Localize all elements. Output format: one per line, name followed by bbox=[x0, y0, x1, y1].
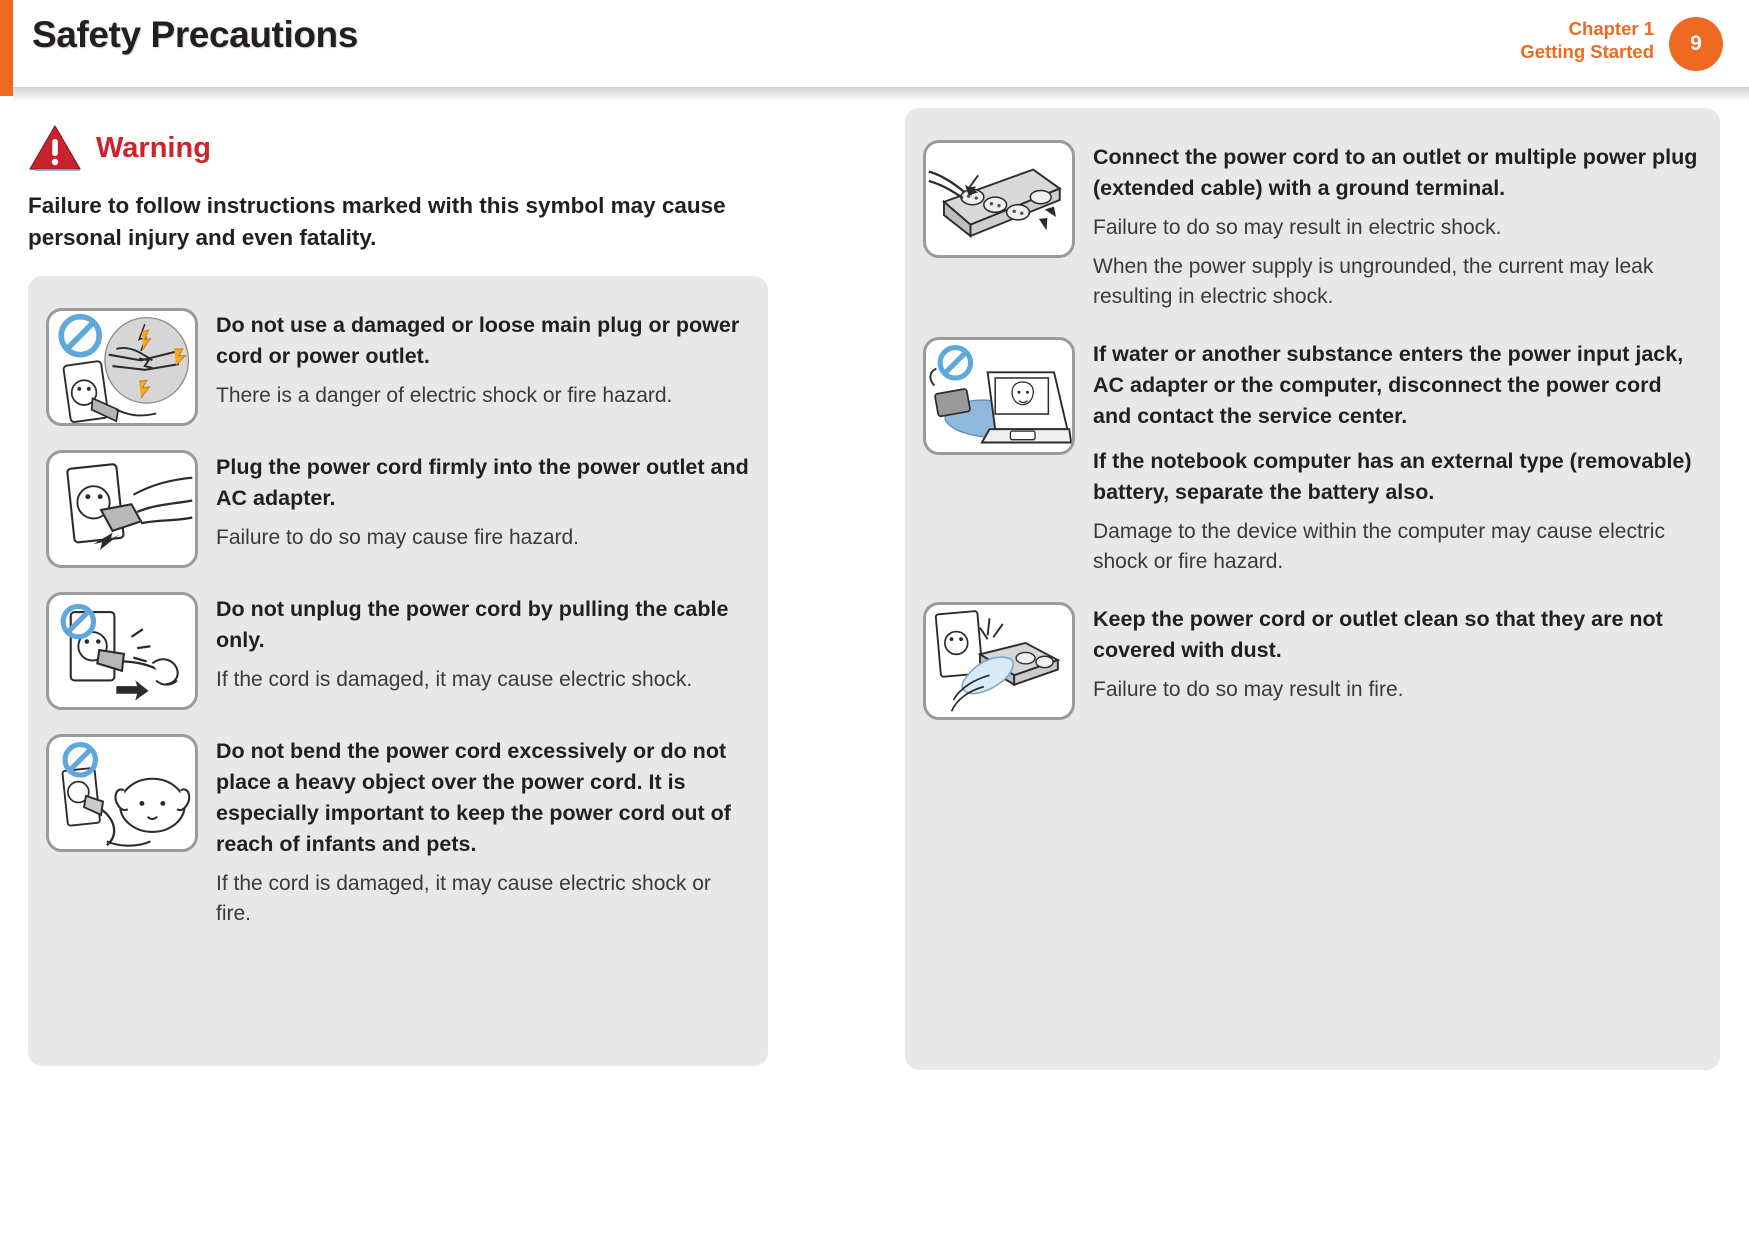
left-column: Warning Failure to follow instructions m… bbox=[28, 108, 768, 1066]
warning-label: Warning bbox=[96, 132, 211, 165]
item-title: Plug the power cord firmly into the powe… bbox=[216, 452, 750, 514]
item-note: Failure to do so may cause fire hazard. bbox=[216, 523, 750, 554]
unplug-by-cable-prohibited-icon bbox=[46, 592, 198, 710]
content-columns: Warning Failure to follow instructions m… bbox=[0, 108, 1749, 1241]
item-note: If the cord is damaged, it may cause ele… bbox=[216, 869, 750, 930]
left-warning-panel: Do not use a damaged or loose main plug … bbox=[28, 276, 768, 1066]
list-item: If water or another substance enters the… bbox=[923, 327, 1702, 592]
list-item-body: Do not bend the power cord excessively o… bbox=[216, 734, 750, 930]
bent-cord-pet-prohibited-icon bbox=[46, 734, 198, 852]
list-item: Do not bend the power cord excessively o… bbox=[46, 724, 750, 944]
damaged-plug-prohibited-icon bbox=[46, 308, 198, 426]
list-item: Connect the power cord to an outlet or m… bbox=[923, 130, 1702, 327]
header-accent-bar bbox=[0, 0, 13, 96]
item-note: When the power supply is ungrounded, the… bbox=[1093, 252, 1702, 313]
section-label: Getting Started bbox=[1520, 41, 1654, 64]
list-item-body: Connect the power cord to an outlet or m… bbox=[1093, 140, 1702, 313]
power-strip-ground-terminal-icon bbox=[923, 140, 1075, 258]
header-shadow bbox=[13, 88, 1749, 102]
chapter-breadcrumb: Chapter 1 Getting Started bbox=[1520, 18, 1654, 63]
document-page: Safety Precautions Chapter 1 Getting Sta… bbox=[0, 0, 1749, 1241]
list-item-body: Plug the power cord firmly into the powe… bbox=[216, 450, 750, 568]
page-header: Safety Precautions Chapter 1 Getting Sta… bbox=[0, 0, 1749, 96]
item-note: Damage to the device within the computer… bbox=[1093, 517, 1702, 578]
water-spill-laptop-prohibited-icon bbox=[923, 337, 1075, 455]
item-title: If water or another substance enters the… bbox=[1093, 339, 1702, 432]
item-note: Failure to do so may result in electric … bbox=[1093, 213, 1702, 244]
item-title: Do not unplug the power cord by pulling … bbox=[216, 594, 750, 656]
list-item: Do not unplug the power cord by pulling … bbox=[46, 582, 750, 724]
item-title: Do not use a damaged or loose main plug … bbox=[216, 310, 750, 372]
item-note: If the cord is damaged, it may cause ele… bbox=[216, 665, 750, 696]
list-item-body: Keep the power cord or outlet clean so t… bbox=[1093, 602, 1702, 720]
warning-triangle-icon bbox=[28, 124, 82, 172]
item-title: Connect the power cord to an outlet or m… bbox=[1093, 142, 1702, 204]
item-title: Do not bend the power cord excessively o… bbox=[216, 736, 750, 860]
list-item-body: Do not unplug the power cord by pulling … bbox=[216, 592, 750, 710]
clean-outlet-dust-icon bbox=[923, 602, 1075, 720]
list-item-body: Do not use a damaged or loose main plug … bbox=[216, 308, 750, 426]
list-item-body: If water or another substance enters the… bbox=[1093, 337, 1702, 578]
list-item: Keep the power cord or outlet clean so t… bbox=[923, 592, 1702, 734]
warning-heading: Warning bbox=[28, 124, 768, 172]
item-title-secondary: If the notebook computer has an external… bbox=[1093, 446, 1702, 508]
item-note: Failure to do so may result in fire. bbox=[1093, 675, 1702, 706]
chapter-label: Chapter 1 bbox=[1520, 18, 1654, 41]
warning-description: Failure to follow instructions marked wi… bbox=[28, 190, 748, 254]
right-warning-panel: Connect the power cord to an outlet or m… bbox=[905, 108, 1720, 1070]
list-item: Plug the power cord firmly into the powe… bbox=[46, 440, 750, 582]
right-column: Connect the power cord to an outlet or m… bbox=[905, 108, 1720, 1070]
item-title: Keep the power cord or outlet clean so t… bbox=[1093, 604, 1702, 666]
plug-firmly-into-outlet-icon bbox=[46, 450, 198, 568]
list-item: Do not use a damaged or loose main plug … bbox=[46, 298, 750, 440]
page-number-badge: 9 bbox=[1669, 17, 1723, 71]
item-note: There is a danger of electric shock or f… bbox=[216, 381, 750, 412]
page-title: Safety Precautions bbox=[32, 14, 358, 56]
